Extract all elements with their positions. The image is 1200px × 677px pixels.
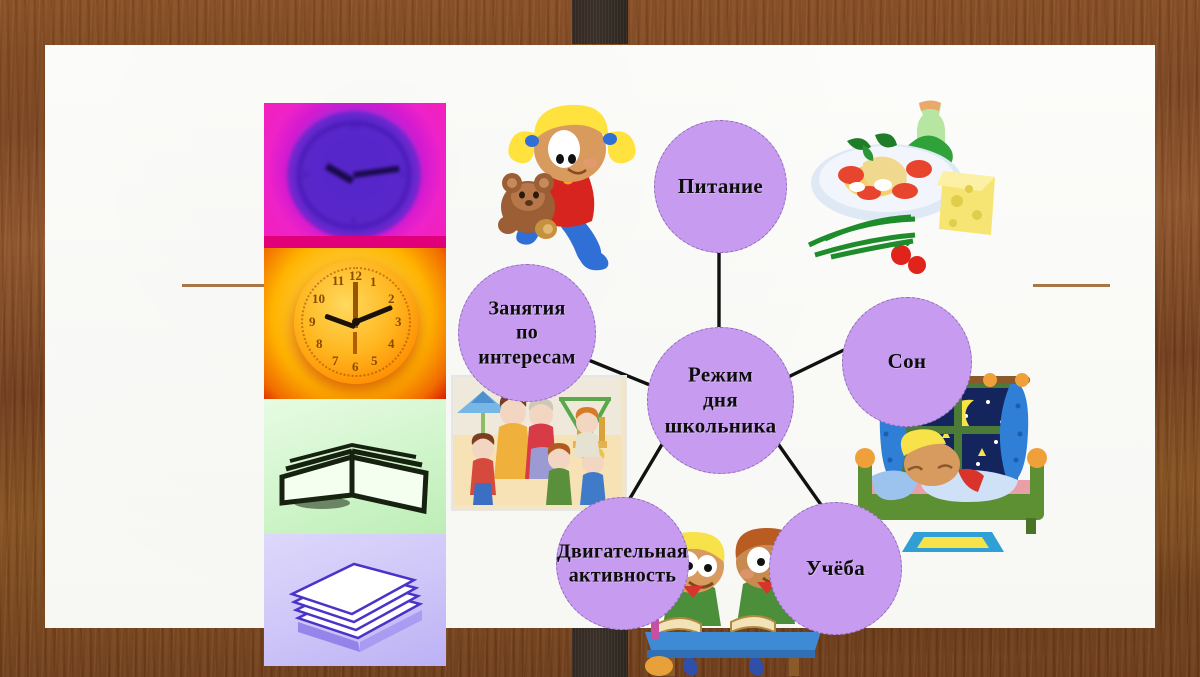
open-book-icon [264, 399, 446, 534]
center-label-line1: Режим [621, 362, 821, 388]
photo-strip: 12 3 6 9 12 1 2 3 4 5 6 7 [264, 103, 446, 666]
photo-orange-clock: 12 1 2 3 4 5 6 7 8 9 10 11 [264, 248, 446, 399]
girl-with-teddy-bear [486, 97, 636, 277]
accent-rule-left [182, 284, 266, 287]
center-label-line2: дня [621, 388, 821, 414]
slide-card: 12 3 6 9 12 1 2 3 4 5 6 7 [45, 45, 1155, 628]
edge-center-ucheba [776, 441, 824, 509]
node-dvigatelnaya-aktivnost[interactable]: Двигательная активность [556, 497, 689, 630]
node-zanyatiya-label-line3: интересам [432, 345, 622, 369]
binder-spine-top [572, 0, 628, 44]
clock-icon: 12 3 6 9 [287, 111, 421, 239]
node-zanyatiya-label-line2: по [432, 321, 622, 345]
node-center-rezhim-dnya-shkolnika[interactable]: Режим дня школьника [647, 327, 794, 474]
node-zanyatiya-po-interesam[interactable]: Занятия по интересам [458, 264, 596, 402]
photo-paper-stack [264, 534, 446, 666]
photo-purple-clock: 12 3 6 9 [264, 103, 446, 248]
mind-map-diagram: Питание Сон Учёба Двигательная активност… [446, 97, 1064, 672]
node-son-label: Сон [888, 349, 927, 375]
node-ucheba[interactable]: Учёба [769, 502, 902, 635]
clock-icon: 12 1 2 3 4 5 6 7 8 9 10 11 [294, 260, 418, 384]
center-label-line3: школьника [621, 413, 821, 439]
node-pitanie-label: Питание [678, 174, 763, 200]
edge-center-dvig [626, 441, 664, 505]
photo-open-book [264, 399, 446, 534]
node-pitanie[interactable]: Питание [654, 120, 787, 253]
node-dvig-label-line2: активность [493, 564, 753, 588]
slide-stage: 12 3 6 9 12 1 2 3 4 5 6 7 [0, 0, 1200, 677]
healthy-food-plate [791, 97, 1021, 287]
paper-stack-icon [264, 534, 446, 666]
node-ucheba-label: Учёба [806, 556, 865, 582]
node-zanyatiya-label-line1: Занятия [432, 296, 622, 320]
node-son[interactable]: Сон [842, 297, 972, 427]
node-dvig-label-line1: Двигательная [493, 539, 753, 563]
